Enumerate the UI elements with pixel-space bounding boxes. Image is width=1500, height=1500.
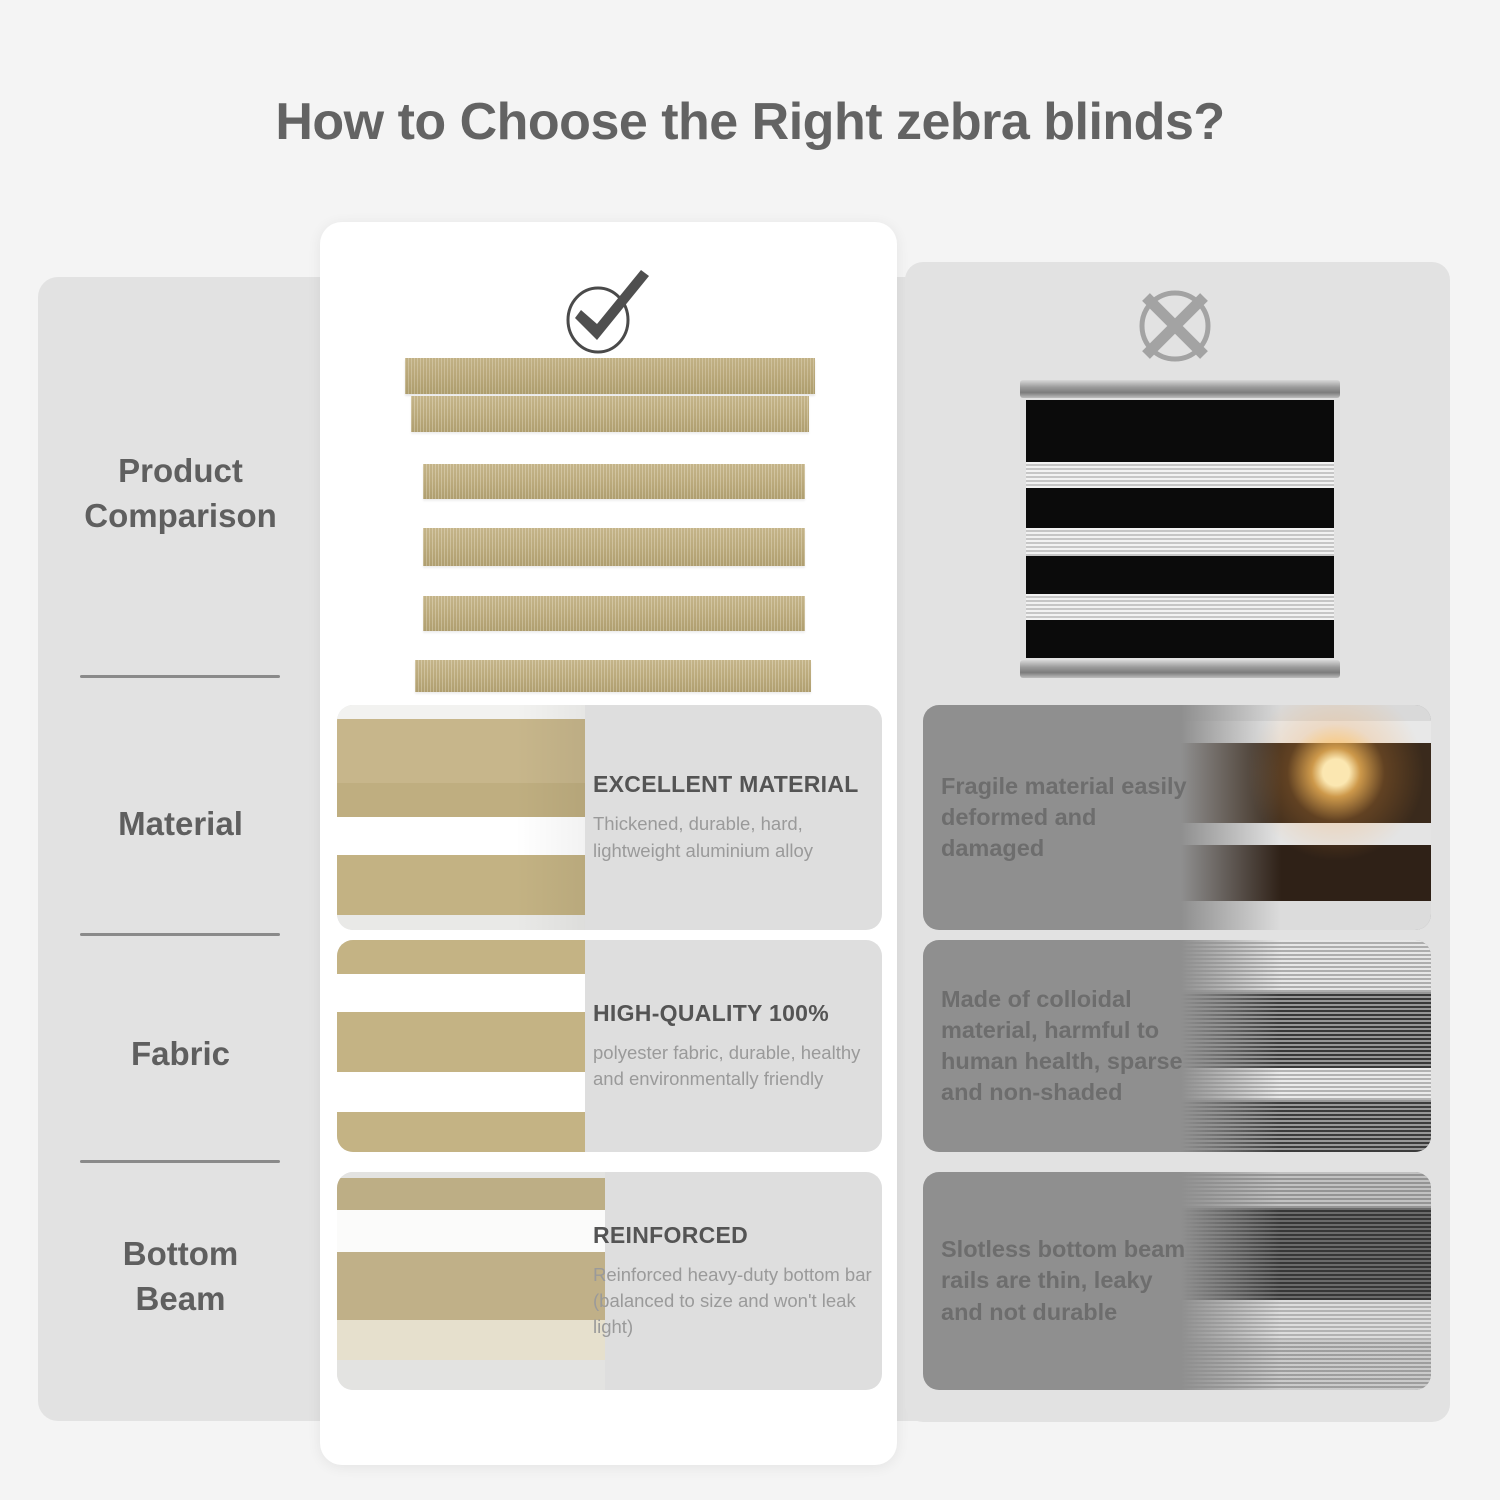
bad-feature-text-bottom-beam: Slotless bottom beam rails are thin, lea…	[941, 1172, 1196, 1390]
good-feature-card-bottom-beam: REINFORCED Reinforced heavy-duty bottom …	[337, 1172, 882, 1390]
slotless-bottom-rail-photo	[1181, 1172, 1431, 1390]
bad-feature-card-material: Fragile material easily deformed and dam…	[923, 705, 1431, 930]
tan-blind-headrail-closeup-photo	[337, 705, 585, 930]
feature-con-text: Made of colloidal material, harmful to h…	[941, 984, 1196, 1109]
row-label-product-comparison: Product Comparison	[38, 449, 323, 539]
good-feature-card-fabric: HIGH-QUALITY 100% polyester fabric, dura…	[337, 940, 882, 1152]
tan-bottom-bar-closeup-photo	[337, 1172, 605, 1390]
black-blind-body	[1026, 400, 1334, 658]
good-feature-text-bottom-beam: REINFORCED Reinforced heavy-duty bottom …	[593, 1172, 873, 1390]
tan-band	[423, 464, 805, 499]
tan-band	[423, 596, 805, 631]
black-blind-headrail	[1020, 380, 1340, 398]
feature-heading: EXCELLENT MATERIAL	[593, 771, 873, 798]
tan-headrail	[405, 358, 815, 394]
row-label-line1: Product	[118, 452, 243, 489]
bad-feature-text-fabric: Made of colloidal material, harmful to h…	[941, 940, 1196, 1152]
sheer-band	[1026, 528, 1334, 556]
tan-band	[423, 528, 805, 566]
row-label-line1: Bottom	[123, 1235, 238, 1272]
photo-edge-fade	[1181, 940, 1281, 1152]
row-label-fabric: Fabric	[38, 1032, 323, 1077]
tan-bottom-bar	[415, 660, 811, 692]
feature-body: Reinforced heavy-duty bottom bar (balanc…	[593, 1262, 873, 1341]
sheer-band	[1026, 594, 1334, 620]
page-title: How to Choose the Right zebra blinds?	[0, 92, 1500, 152]
tan-band	[411, 396, 809, 432]
label-divider-3	[80, 1160, 280, 1163]
cross-circle-icon	[1120, 281, 1230, 371]
row-label-line1: Fabric	[131, 1035, 230, 1072]
row-label-line1: Material	[118, 805, 243, 842]
bad-feature-text-material: Fragile material easily deformed and dam…	[941, 705, 1196, 930]
bad-feature-card-fabric: Made of colloidal material, harmful to h…	[923, 940, 1431, 1152]
photo-edge-fade	[1181, 705, 1281, 930]
black-blind-bottom-rail	[1020, 660, 1340, 678]
feature-heading: REINFORCED	[593, 1222, 873, 1249]
sunlight-leaking-photo	[1181, 705, 1431, 930]
sparse-fabric-photo	[1181, 940, 1431, 1152]
good-feature-text-material: EXCELLENT MATERIAL Thickened, durable, h…	[593, 705, 873, 930]
sheer-band	[1026, 462, 1334, 488]
feature-body: Thickened, durable, hard, lightweight al…	[593, 811, 873, 864]
tan-blind-fabric-closeup-photo	[337, 940, 585, 1152]
label-divider-1	[80, 675, 280, 678]
good-hero-product-image	[405, 358, 815, 696]
feature-heading: HIGH-QUALITY 100%	[593, 1000, 873, 1027]
feature-con-text: Slotless bottom beam rails are thin, lea…	[941, 1234, 1196, 1328]
check-circle-icon	[553, 268, 663, 358]
feature-body: polyester fabric, durable, healthy and e…	[593, 1040, 873, 1093]
label-divider-2	[80, 933, 280, 936]
row-label-column: Product Comparison Material Fabric Botto…	[38, 277, 323, 1421]
photo-edge-fade	[1181, 1172, 1281, 1390]
bad-feature-card-bottom-beam: Slotless bottom beam rails are thin, lea…	[923, 1172, 1431, 1390]
good-feature-text-fabric: HIGH-QUALITY 100% polyester fabric, dura…	[593, 940, 873, 1152]
row-label-bottom-beam: Bottom Beam	[38, 1232, 323, 1322]
bad-hero-product-image	[1020, 380, 1340, 678]
row-label-material: Material	[38, 802, 323, 847]
feature-con-text: Fragile material easily deformed and dam…	[941, 771, 1196, 865]
infographic-page: How to Choose the Right zebra blinds? Pr…	[0, 0, 1500, 1500]
good-feature-card-material: EXCELLENT MATERIAL Thickened, durable, h…	[337, 705, 882, 930]
row-label-line2: Beam	[136, 1280, 226, 1317]
row-label-line2: Comparison	[84, 497, 277, 534]
